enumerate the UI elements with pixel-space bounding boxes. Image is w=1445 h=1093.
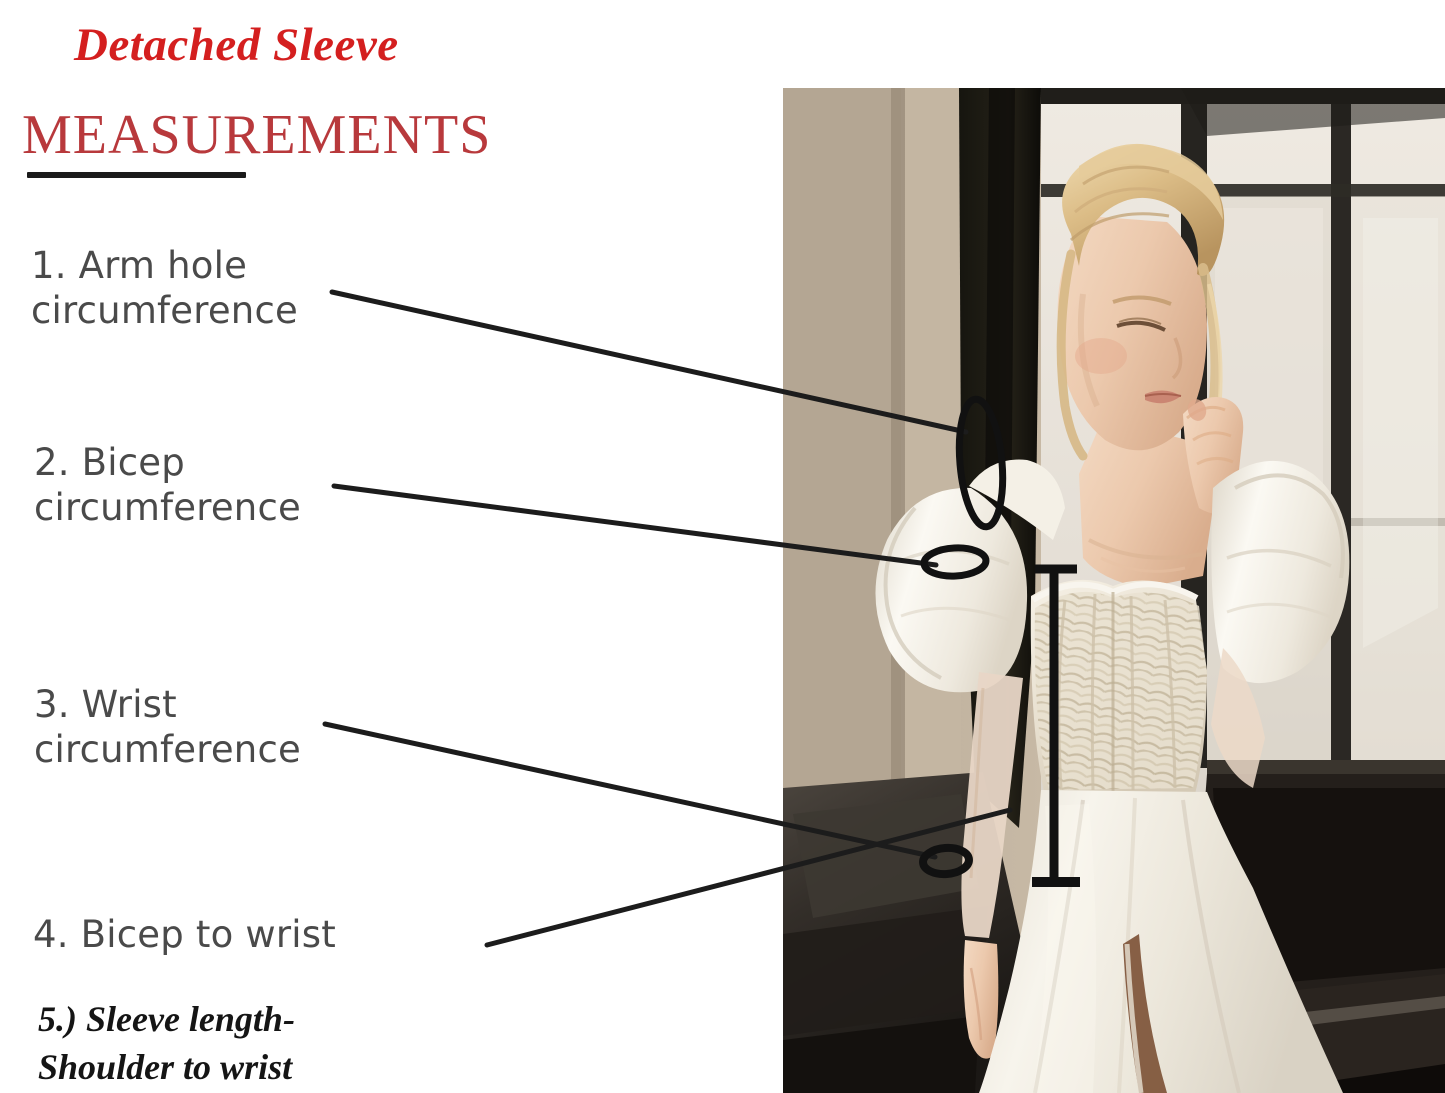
title-underline-rule [27,172,246,178]
page-title-detached-sleeve: Detached Sleeve [74,18,399,72]
measurement-item-arm-hole: 1. Arm hole circumference [31,243,298,333]
measurement-guide-page: Detached Sleeve MEASUREMENTS 1. Arm hole… [0,0,1445,1093]
measurement-item-sleeve-length: 5.) Sleeve length- Shoulder to wrist [38,996,295,1092]
page-title-measurements: MEASUREMENTS [22,103,491,167]
bride-photo-illustration [783,88,1445,1093]
measurement-item-bicep-to-wrist: 4. Bicep to wrist [33,912,336,957]
measurement-item-wrist: 3. Wrist circumference [34,682,301,772]
measurement-item-bicep: 2. Bicep circumference [34,440,301,530]
bride-photo [783,88,1445,1093]
